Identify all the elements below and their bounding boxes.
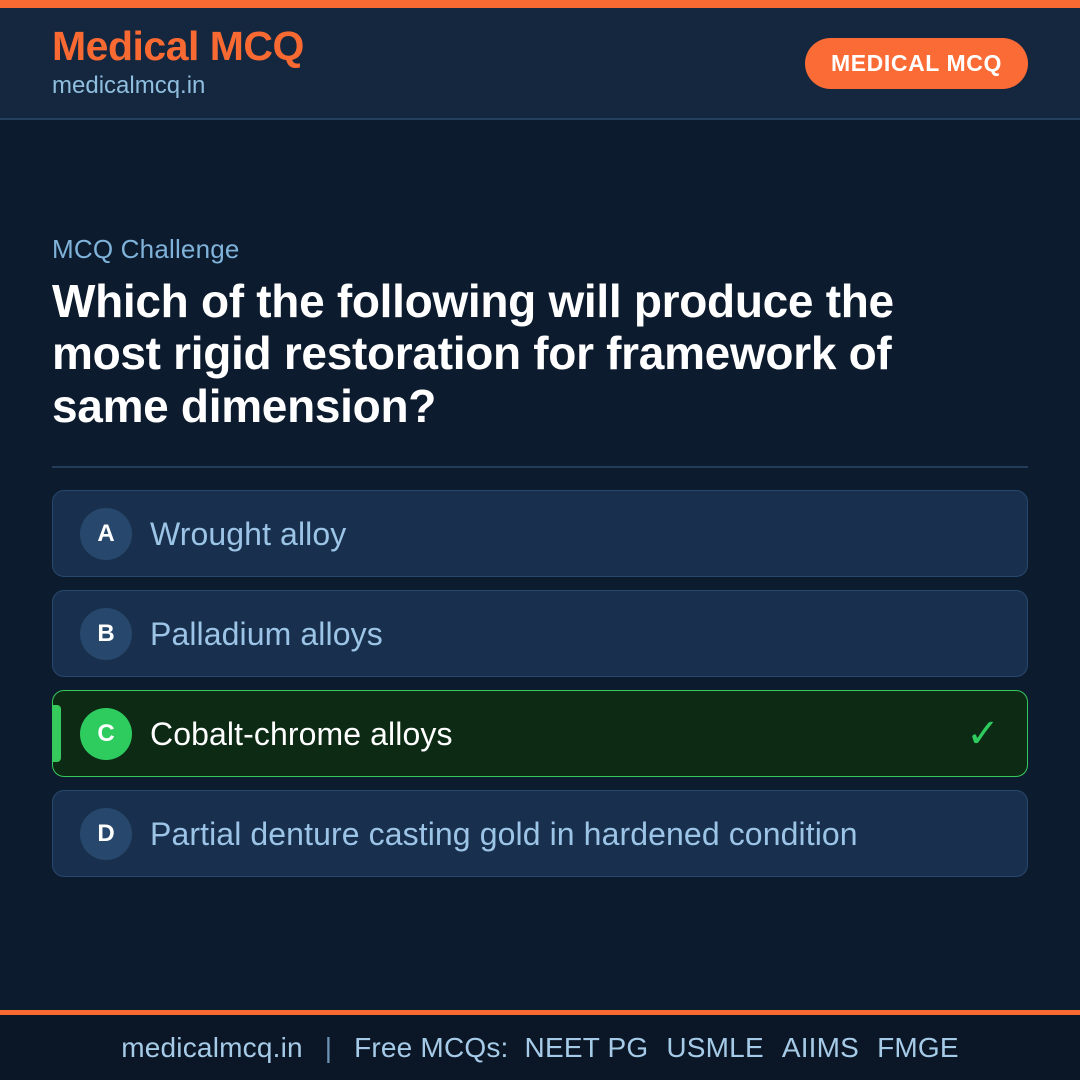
brand-subtitle: medicalmcq.in	[52, 71, 304, 101]
page-header: Medical MCQ medicalmcq.in MEDICAL MCQ	[0, 8, 1080, 120]
brand-pill-badge: MEDICAL MCQ	[805, 38, 1028, 89]
footer-free-label: Free MCQs:	[354, 1032, 508, 1064]
section-divider	[52, 466, 1028, 468]
option-row-c[interactable]: C Cobalt-chrome alloys ✓	[52, 690, 1028, 777]
option-label-a: Wrought alloy	[150, 516, 963, 552]
option-row-a[interactable]: A Wrought alloy	[52, 490, 1028, 577]
option-letter-badge-d: D	[80, 808, 132, 860]
question-text: Which of the following will produce the …	[52, 275, 912, 432]
footer-exam-fmge[interactable]: FMGE	[877, 1032, 959, 1064]
option-row-d[interactable]: D Partial denture casting gold in harden…	[52, 790, 1028, 877]
brand-title: Medical MCQ	[52, 25, 304, 68]
footer-exam-usmle[interactable]: USMLE	[666, 1032, 763, 1064]
top-accent-bar	[0, 0, 1080, 8]
option-letter-badge-a: A	[80, 508, 132, 560]
footer-separator: |	[319, 1032, 338, 1064]
main-content: MCQ Challenge Which of the following wil…	[0, 122, 1080, 1010]
footer-exam-list: NEET PG USMLE AIIMS FMGE	[525, 1032, 959, 1064]
option-row-b[interactable]: B Palladium alloys	[52, 590, 1028, 677]
option-letter-badge-b: B	[80, 608, 132, 660]
option-letter-badge-c: C	[80, 708, 132, 760]
check-icon-c: ✓	[963, 714, 1003, 754]
footer-exam-neet-pg[interactable]: NEET PG	[525, 1032, 649, 1064]
option-label-d: Partial denture casting gold in hardened…	[150, 816, 963, 852]
brand-block: Medical MCQ medicalmcq.in	[52, 25, 304, 101]
option-label-b: Palladium alloys	[150, 616, 963, 652]
options-list: A Wrought alloy B Palladium alloys C Cob…	[52, 490, 1028, 877]
option-label-c: Cobalt-chrome alloys	[150, 716, 963, 752]
mcq-challenge-label: MCQ Challenge	[52, 234, 1028, 265]
page-footer: medicalmcq.in | Free MCQs: NEET PG USMLE…	[0, 1015, 1080, 1080]
footer-site-link[interactable]: medicalmcq.in	[121, 1032, 303, 1064]
footer-exam-aiims[interactable]: AIIMS	[782, 1032, 859, 1064]
